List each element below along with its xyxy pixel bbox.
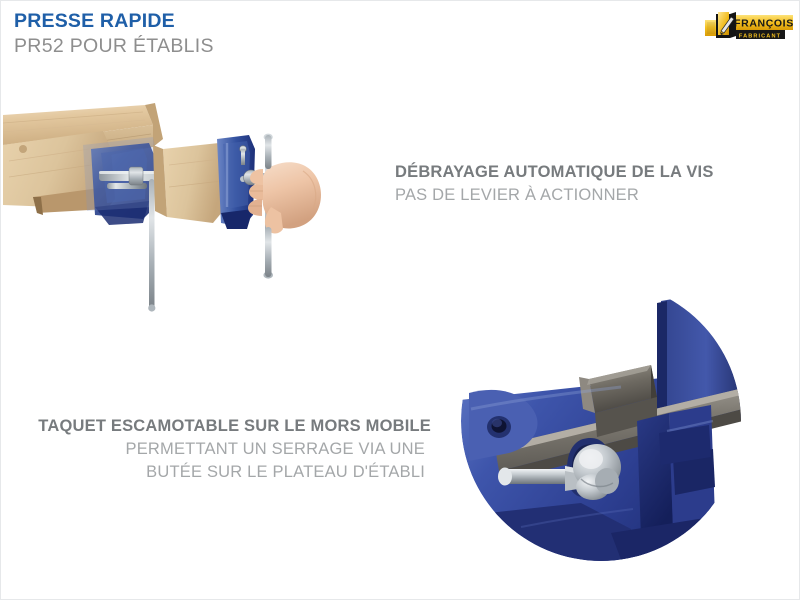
callout-headline: DÉBRAYAGE AUTOMATIQUE DE LA VIS (395, 161, 795, 184)
callout-screw-release: DÉBRAYAGE AUTOMATIQUE DE LA VIS PAS DE L… (395, 161, 795, 207)
page-subtitle: PR52 POUR ÉTABLIS (14, 33, 214, 59)
product-photo-detail (461, 281, 741, 561)
logo-tagline-text: FABRICANT (739, 33, 781, 39)
logo-brand-text: FRANÇOIS (734, 18, 794, 30)
product-photo-main (3, 87, 333, 317)
header: PRESSE RAPIDE PR52 POUR ÉTABLIS (1, 1, 800, 73)
logo-nameplate: FRANÇOIS FABRICANT (734, 15, 794, 39)
callout-retractable-dog: TAQUET ESCAMOTABLE SUR LE MORS MOBILE PE… (1, 415, 433, 484)
callout-subline: BUTÉE SUR LE PLATEAU D'ÉTABLI (1, 461, 433, 484)
page-title: PRESSE RAPIDE (14, 9, 214, 33)
title-block: PRESSE RAPIDE PR52 POUR ÉTABLIS (14, 9, 214, 59)
slide-canvas: PRESSE RAPIDE PR52 POUR ÉTABLIS (0, 0, 800, 600)
brand-logo[interactable]: FRANÇOIS FABRICANT (703, 9, 795, 45)
callout-headline: TAQUET ESCAMOTABLE SUR LE MORS MOBILE (1, 415, 433, 438)
callout-subline: PERMETTANT UN SERRAGE VIA UNE (1, 438, 433, 461)
logo-blocks-icon (705, 12, 736, 38)
callout-subline: PAS DE LEVIER À ACTIONNER (395, 184, 795, 207)
